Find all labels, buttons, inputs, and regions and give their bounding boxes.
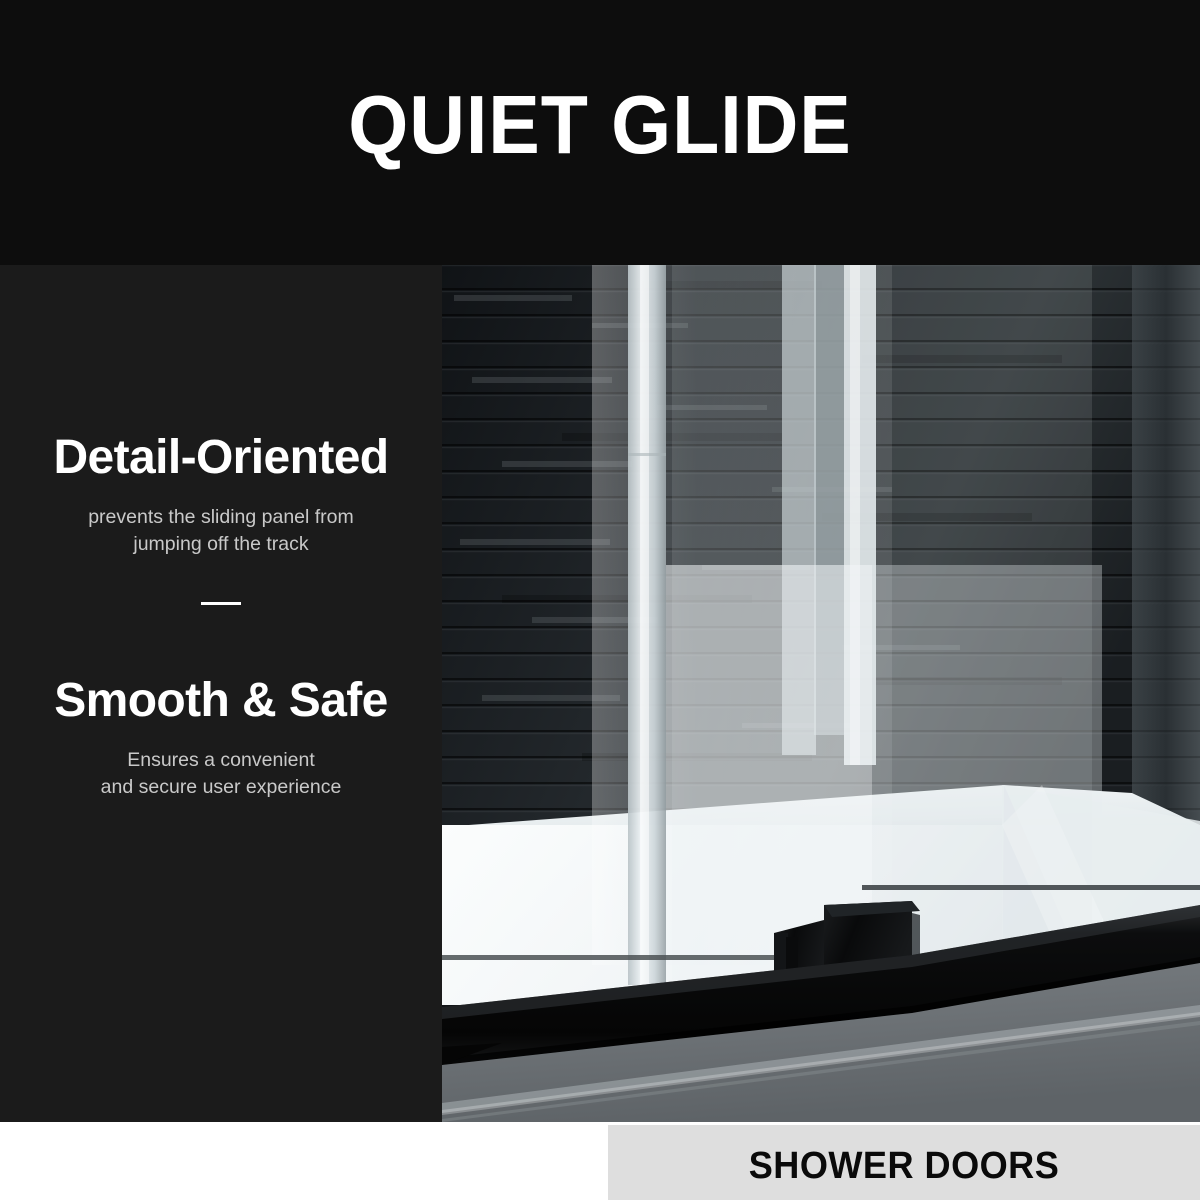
- feature-description: prevents the sliding panel from jumping …: [0, 504, 442, 558]
- header-bar: QUIET GLIDE: [0, 0, 1200, 265]
- feature-heading: Detail-Oriented: [0, 430, 442, 486]
- feature-block-smooth-safe: Smooth & Safe Ensures a convenient and s…: [0, 673, 442, 801]
- feature-description: Ensures a convenient and secure user exp…: [0, 747, 442, 801]
- section-divider: [201, 602, 241, 605]
- category-banner: SHOWER DOORS: [608, 1125, 1200, 1200]
- feature-heading: Smooth & Safe: [0, 673, 442, 729]
- feature-block-detail-oriented: Detail-Oriented prevents the sliding pan…: [0, 430, 442, 558]
- product-photo: [442, 265, 1200, 1122]
- shower-door-detail-illustration: [442, 265, 1200, 1122]
- feature-sidebar: Detail-Oriented prevents the sliding pan…: [0, 265, 442, 1122]
- category-banner-label: SHOWER DOORS: [623, 1144, 1185, 1188]
- product-feature-graphic: QUIET GLIDE Detail-Oriented prevents the…: [0, 0, 1200, 1200]
- page-title: QUIET GLIDE: [42, 79, 1158, 171]
